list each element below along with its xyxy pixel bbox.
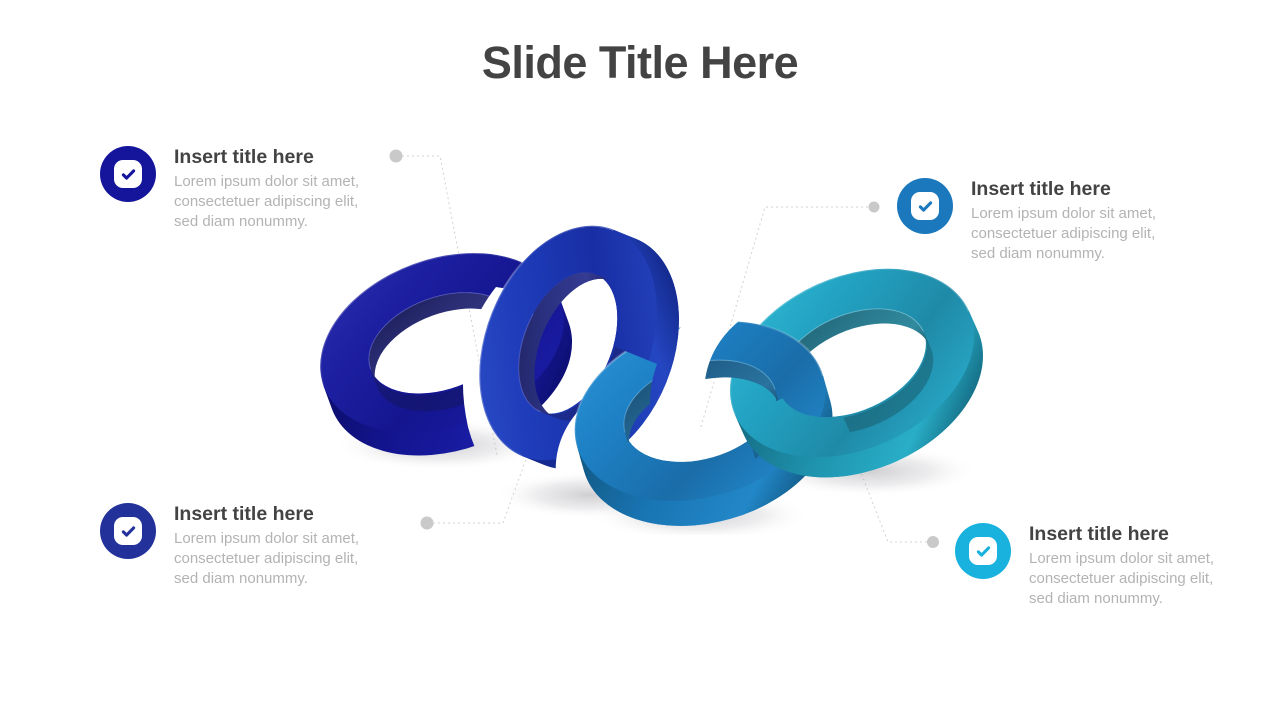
check-circle-icon[interactable]: [100, 146, 156, 202]
check-badge: [969, 537, 997, 565]
chain-rings-illustration: [300, 195, 990, 535]
callout-text-block: Insert title here Lorem ipsum dolor sit …: [174, 143, 359, 232]
callout-text-block: Insert title here Lorem ipsum dolor sit …: [174, 500, 359, 589]
callout-top-left[interactable]: Insert title here Lorem ipsum dolor sit …: [100, 143, 359, 232]
callout-bottom-left[interactable]: Insert title here Lorem ipsum dolor sit …: [100, 500, 359, 589]
check-circle-icon[interactable]: [897, 178, 953, 234]
callout-text-block: Insert title here Lorem ipsum dolor sit …: [971, 175, 1156, 264]
check-badge: [911, 192, 939, 220]
callout-body: Lorem ipsum dolor sit amet, consectetuer…: [971, 204, 1156, 264]
check-badge: [114, 160, 142, 188]
callout-text-block: Insert title here Lorem ipsum dolor sit …: [1029, 520, 1214, 609]
check-badge: [114, 517, 142, 545]
callout-body: Lorem ipsum dolor sit amet, consectetuer…: [1029, 549, 1214, 609]
callout-title: Insert title here: [174, 145, 359, 169]
callout-title: Insert title here: [1029, 522, 1214, 546]
check-circle-icon[interactable]: [100, 503, 156, 559]
connector-dot-1: [390, 150, 403, 163]
check-circle-icon[interactable]: [955, 523, 1011, 579]
slide-canvas: Slide Title Here: [0, 0, 1280, 720]
callout-body: Lorem ipsum dolor sit amet, consectetuer…: [174, 529, 359, 589]
callout-title: Insert title here: [971, 177, 1156, 201]
callout-top-right[interactable]: Insert title here Lorem ipsum dolor sit …: [897, 175, 1156, 264]
callout-bottom-right[interactable]: Insert title here Lorem ipsum dolor sit …: [955, 520, 1214, 609]
callout-body: Lorem ipsum dolor sit amet, consectetuer…: [174, 172, 359, 232]
callout-title: Insert title here: [174, 502, 359, 526]
connector-dot-4: [927, 536, 939, 548]
